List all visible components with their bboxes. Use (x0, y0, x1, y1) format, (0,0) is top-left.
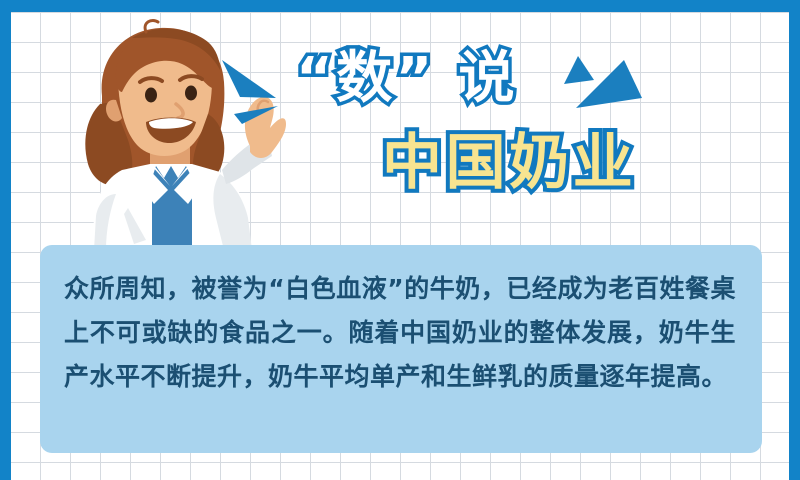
infographic-poster: “数” 说 中国奶业 众所周知，被誉为“白色血液”的牛奶，已经成为老百姓餐桌上不… (0, 0, 800, 480)
intro-text-panel: 众所周知，被誉为“白色血液”的牛奶，已经成为老百姓餐桌上不可或缺的食品之一。随着… (40, 245, 762, 453)
poster-title: “数” 说 中国奶业 (290, 48, 710, 218)
title-line-china-dairy: 中国奶业 (382, 130, 636, 196)
title-line-shuo-shuo: “数” 说 (296, 48, 518, 110)
frame-border-top (0, 0, 800, 12)
frame-border-left (0, 0, 11, 480)
frame-border-right (789, 0, 800, 480)
intro-paragraph: 众所周知，被誉为“白色血液”的牛奶，已经成为老百姓餐桌上不可或缺的食品之一。随着… (64, 267, 736, 399)
